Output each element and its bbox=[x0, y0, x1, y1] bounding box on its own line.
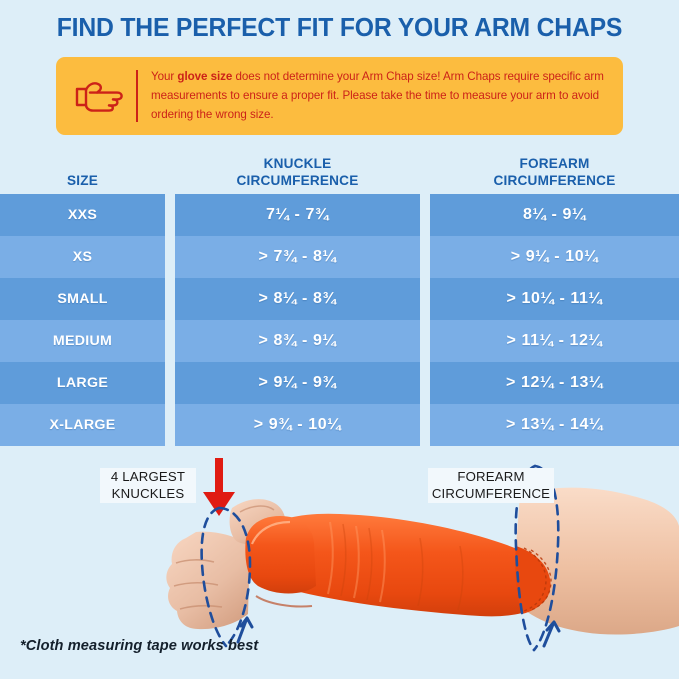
cell-knuckle: > 9¼ - 9¾ bbox=[175, 362, 420, 404]
cell-size: SMALL bbox=[0, 278, 165, 320]
sizing-chart-page: FIND THE PERFECT FIT FOR YOUR ARM CHAPS … bbox=[0, 0, 679, 679]
header-forearm-circumference: FOREARM CIRCUMFERENCE bbox=[430, 156, 679, 194]
cell-forearm: > 11¼ - 12¼ bbox=[430, 320, 679, 362]
header-forearm-line2: CIRCUMFERENCE bbox=[430, 173, 679, 190]
callout-wrapper: Your glove size does not determine your … bbox=[0, 42, 679, 135]
cell-size: X-LARGE bbox=[0, 404, 165, 446]
table-row: XXS 7¼ - 7¾ 8¼ - 9¼ bbox=[0, 194, 679, 236]
callout-text-bold: glove size bbox=[177, 70, 232, 83]
table-row: LARGE > 9¼ - 9¾ > 12¼ - 13¼ bbox=[0, 362, 679, 404]
label-knuckles-line2: KNUCKLES bbox=[103, 486, 193, 503]
footnote-text: *Cloth measuring tape works best bbox=[20, 638, 258, 654]
header-knuckle-circumference: KNUCKLE CIRCUMFERENCE bbox=[175, 156, 420, 194]
label-forearm-circumference: FOREARM CIRCUMFERENCE bbox=[428, 468, 554, 503]
table-row: X-LARGE > 9¾ - 10¼ > 13¼ - 14¼ bbox=[0, 404, 679, 446]
cell-size: XS bbox=[0, 236, 165, 278]
cell-knuckle: > 9¾ - 10¼ bbox=[175, 404, 420, 446]
cell-forearm: 8¼ - 9¼ bbox=[430, 194, 679, 236]
arm-chap-photo-panel: 4 LARGEST KNUCKLES FOREARM CIRCUMFERENCE… bbox=[0, 446, 679, 670]
callout-text-part1: Your bbox=[151, 70, 177, 83]
pointing-hand-icon bbox=[64, 76, 136, 116]
cell-size: XXS bbox=[0, 194, 165, 236]
cell-forearm: > 10¼ - 11¼ bbox=[430, 278, 679, 320]
cell-forearm: > 13¼ - 14¼ bbox=[430, 404, 679, 446]
cell-knuckle: > 7¾ - 8¼ bbox=[175, 236, 420, 278]
header-size: SIZE bbox=[0, 173, 165, 195]
label-knuckles-line1: 4 LARGEST bbox=[103, 469, 193, 486]
cell-forearm: > 9¼ - 10¼ bbox=[430, 236, 679, 278]
table-body: XXS 7¼ - 7¾ 8¼ - 9¼ XS > 7¾ - 8¼ > 9¼ - … bbox=[0, 194, 679, 446]
header-forearm-line1: FOREARM bbox=[430, 156, 679, 173]
label-forearm-line1: FOREARM bbox=[431, 469, 551, 486]
label-forearm-line2: CIRCUMFERENCE bbox=[431, 486, 551, 503]
table-row: SMALL > 8¼ - 8¾ > 10¼ - 11¼ bbox=[0, 278, 679, 320]
table-row: XS > 7¾ - 8¼ > 9¼ - 10¼ bbox=[0, 236, 679, 278]
cell-knuckle: > 8¾ - 9¼ bbox=[175, 320, 420, 362]
header-knuckle-line2: CIRCUMFERENCE bbox=[175, 173, 420, 190]
label-largest-knuckles: 4 LARGEST KNUCKLES bbox=[100, 468, 196, 503]
cell-knuckle: > 8¼ - 8¾ bbox=[175, 278, 420, 320]
cell-forearm: > 12¼ - 13¼ bbox=[430, 362, 679, 404]
cell-size: MEDIUM bbox=[0, 320, 165, 362]
callout-text: Your glove size does not determine your … bbox=[151, 68, 609, 124]
table-row: MEDIUM > 8¾ - 9¼ > 11¼ - 12¼ bbox=[0, 320, 679, 362]
table-header-row: SIZE KNUCKLE CIRCUMFERENCE FOREARM CIRCU… bbox=[0, 148, 679, 194]
cell-size: LARGE bbox=[0, 362, 165, 404]
glove-size-callout: Your glove size does not determine your … bbox=[56, 57, 623, 135]
size-table: SIZE KNUCKLE CIRCUMFERENCE FOREARM CIRCU… bbox=[0, 148, 679, 446]
cell-knuckle: 7¼ - 7¾ bbox=[175, 194, 420, 236]
page-title: FIND THE PERFECT FIT FOR YOUR ARM CHAPS bbox=[10, 0, 669, 42]
callout-divider bbox=[136, 70, 138, 122]
header-knuckle-line1: KNUCKLE bbox=[175, 156, 420, 173]
